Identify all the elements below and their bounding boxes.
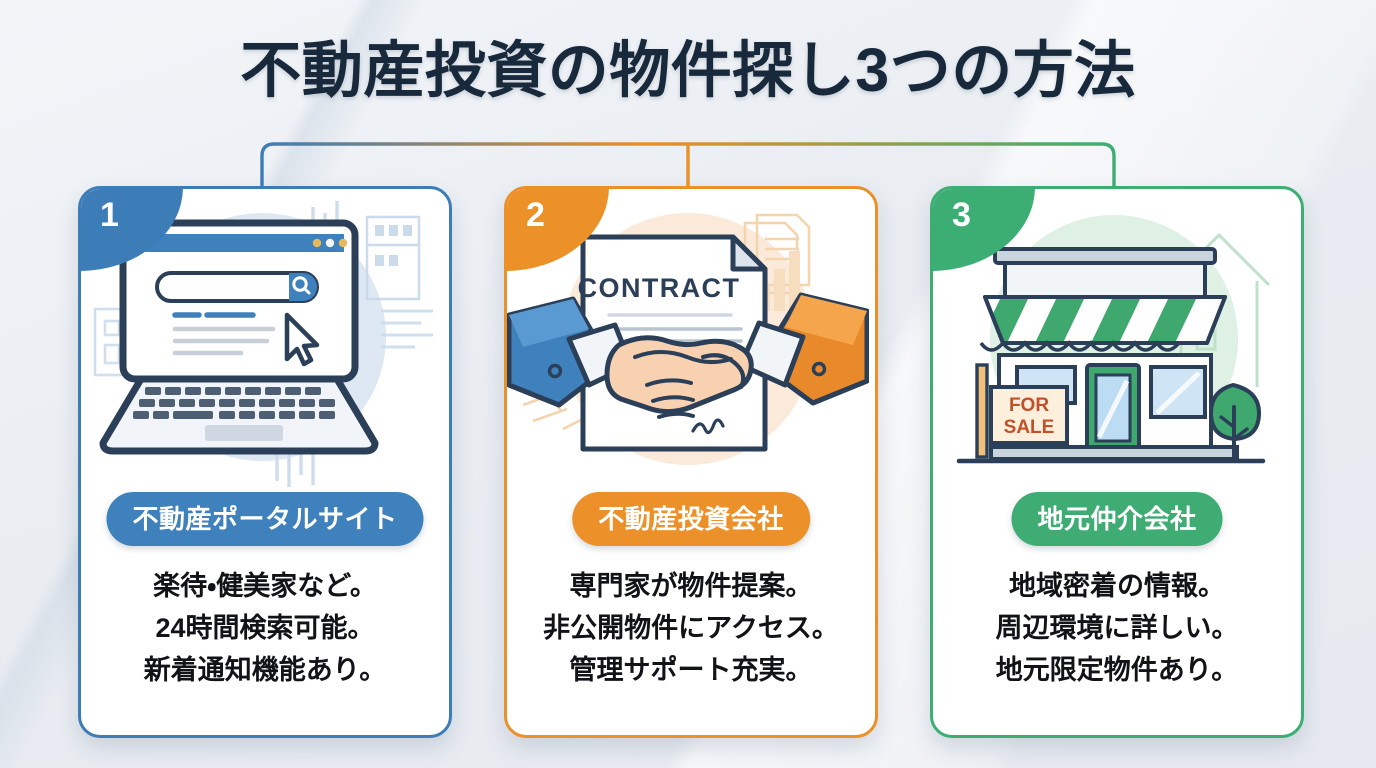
body-line: 非公開物件にアクセス。 xyxy=(519,607,863,649)
body-line: 管理サポート充実。 xyxy=(519,649,863,691)
for-sale-line2: SALE xyxy=(1004,417,1055,438)
page-title: 不動産投資の物件探し3つの方法 xyxy=(0,38,1376,103)
card-pill-label: 不動産投資会社 xyxy=(572,492,810,546)
card-method-3[interactable]: 3 xyxy=(930,186,1304,738)
card-pill-label: 不動産ポータルサイト xyxy=(106,492,423,546)
card-body-text: 専門家が物件提案。 非公開物件にアクセス。 管理サポート充実。 xyxy=(507,565,875,691)
body-line: 専門家が物件提案。 xyxy=(519,565,863,607)
body-line: 24時間検索可能。 xyxy=(93,607,437,649)
body-line: 楽待・健美家など。 xyxy=(93,565,437,607)
body-line: 新着通知機能あり。 xyxy=(93,649,437,691)
card-body-text: 地域密着の情報。 周辺環境に詳しい。 地元限定物件あり。 xyxy=(933,565,1301,691)
contract-title: CONTRACT xyxy=(578,273,741,303)
cards-row: 1 xyxy=(0,186,1376,734)
body-line: 地元限定物件あり。 xyxy=(945,649,1289,691)
body-line: 周辺環境に詳しい。 xyxy=(945,607,1289,649)
for-sale-line1: FOR xyxy=(1009,395,1049,416)
card-method-1[interactable]: 1 xyxy=(78,186,452,738)
card-method-2[interactable]: 2 xyxy=(504,186,878,738)
body-line: 地域密着の情報。 xyxy=(945,565,1289,607)
card-body-text: 楽待・健美家など。 24時間検索可能。 新着通知機能あり。 xyxy=(81,565,449,691)
card-pill-label: 地元仲介会社 xyxy=(1011,492,1222,546)
